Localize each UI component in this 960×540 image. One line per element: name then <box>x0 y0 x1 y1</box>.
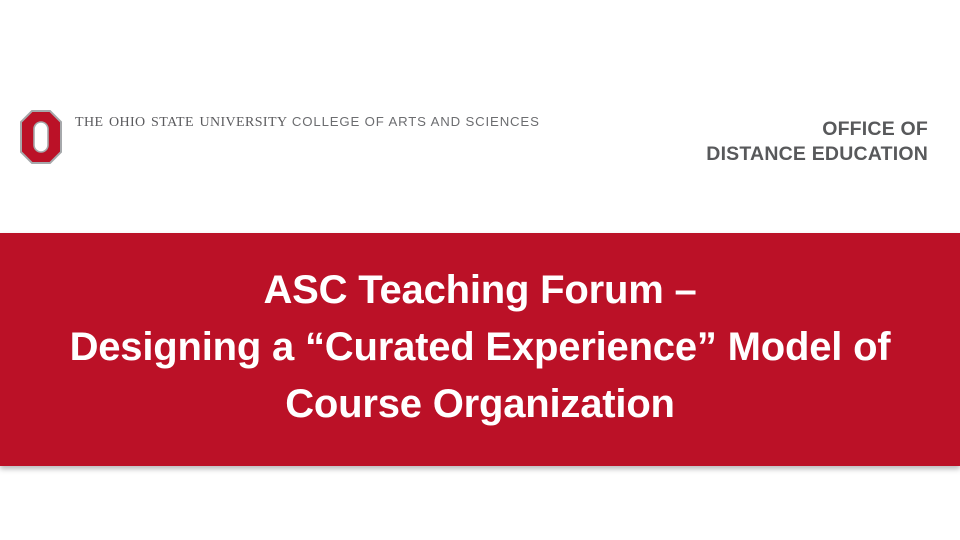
block-o-logo-icon <box>20 110 62 164</box>
unit-line-1: OFFICE OF <box>706 117 928 142</box>
title-line-1: ASC Teaching Forum – <box>30 262 930 319</box>
college-name: COLLEGE OF ARTS AND SCIENCES <box>292 114 540 129</box>
title-banner: ASC Teaching Forum – Designing a “Curate… <box>0 233 960 466</box>
osu-logo-lockup: The Ohio State University COLLEGE OF ART… <box>20 108 540 164</box>
title-line-3: Course Organization <box>30 376 930 433</box>
slide: The Ohio State University COLLEGE OF ART… <box>0 0 960 540</box>
slide-title: ASC Teaching Forum – Designing a “Curate… <box>30 262 930 437</box>
university-name: The Ohio State University <box>75 109 287 131</box>
osu-wordmark: The Ohio State University COLLEGE OF ART… <box>75 108 540 131</box>
slide-header: The Ohio State University COLLEGE OF ART… <box>0 0 960 233</box>
title-line-2: Designing a “Curated Experience” Model o… <box>30 319 930 376</box>
unit-line-2: DISTANCE EDUCATION <box>706 142 928 167</box>
office-of-distance-education: OFFICE OF DISTANCE EDUCATION <box>706 117 928 167</box>
